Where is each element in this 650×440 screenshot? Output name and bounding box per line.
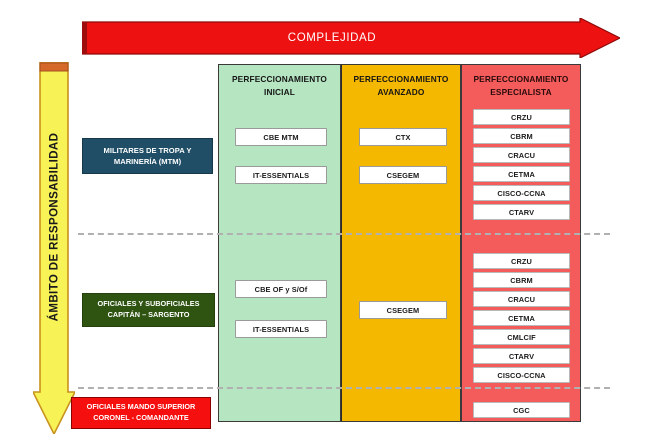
course-pill[interactable]: IT-ESSENTIALS: [235, 166, 327, 184]
column-inicial-title-line1: PERFECCIONAMIENTO: [219, 73, 340, 86]
role-label-mando-superior: OFICIALES MANDO SUPERIOR CORONEL - COMAN…: [71, 397, 211, 429]
column-especialista-title-line2: ESPECIALISTA: [462, 86, 580, 99]
complejidad-arrow: [82, 18, 620, 58]
column-avanzado-title: PERFECCIONAMIENTO AVANZADO: [342, 73, 460, 99]
column-especialista-title-line1: PERFECCIONAMIENTO: [462, 73, 580, 86]
course-pill[interactable]: CTARV: [473, 348, 570, 364]
course-pill[interactable]: CMLCIF: [473, 329, 570, 345]
course-pill[interactable]: CGC: [473, 402, 570, 418]
role-label-mtm: MILITARES DE TROPA Y MARINERÍA (MTM): [82, 138, 213, 174]
course-pill[interactable]: CBE MTM: [235, 128, 327, 146]
role-label-oficiales-suboficiales: OFICIALES Y SUBOFICIALES CAPITÁN – SARGE…: [82, 293, 215, 327]
diagram-canvas: COMPLEJIDAD ÁMBITO DE RESPONSABILIDAD PE…: [0, 0, 650, 440]
role-label-oficiales-line1: OFICIALES Y SUBOFICIALES: [98, 299, 200, 310]
course-pill[interactable]: CRZU: [473, 109, 570, 125]
role-label-mtm-line2: MARINERÍA (MTM): [114, 156, 181, 167]
course-pill[interactable]: CTX: [359, 128, 447, 146]
column-inicial: PERFECCIONAMIENTO INICIAL CBE MTM IT-ESS…: [218, 64, 341, 422]
responsabilidad-arrow: [33, 62, 75, 434]
course-pill[interactable]: CBRM: [473, 272, 570, 288]
band-separator-lower: [78, 387, 610, 389]
role-label-oficiales-line2: CAPITÁN – SARGENTO: [108, 310, 190, 321]
role-label-mando-line2: CORONEL - COMANDANTE: [93, 413, 189, 424]
column-avanzado: PERFECCIONAMIENTO AVANZADO CTX CSEGEM CS…: [341, 64, 461, 422]
course-pill[interactable]: CRACU: [473, 291, 570, 307]
course-pill[interactable]: CISCO-CCNA: [473, 185, 570, 201]
course-pill[interactable]: CETMA: [473, 166, 570, 182]
course-pill[interactable]: CTARV: [473, 204, 570, 220]
course-pill[interactable]: CRZU: [473, 253, 570, 269]
course-pill[interactable]: CRACU: [473, 147, 570, 163]
column-avanzado-title-line2: AVANZADO: [342, 86, 460, 99]
course-pill[interactable]: CETMA: [473, 310, 570, 326]
course-pill[interactable]: CSEGEM: [359, 166, 447, 184]
column-inicial-title-line2: INICIAL: [219, 86, 340, 99]
role-label-mtm-line1: MILITARES DE TROPA Y: [104, 145, 192, 156]
role-label-mando-line1: OFICIALES MANDO SUPERIOR: [87, 402, 196, 413]
course-pill[interactable]: IT-ESSENTIALS: [235, 320, 327, 338]
course-pill[interactable]: CBRM: [473, 128, 570, 144]
course-pill[interactable]: CISCO-CCNA: [473, 367, 570, 383]
column-avanzado-title-line1: PERFECCIONAMIENTO: [342, 73, 460, 86]
band-separator-upper: [78, 233, 610, 235]
column-especialista: PERFECCIONAMIENTO ESPECIALISTA CRZU CBRM…: [461, 64, 581, 422]
course-pill[interactable]: CBE OF y S/Of: [235, 280, 327, 298]
course-pill[interactable]: CSEGEM: [359, 301, 447, 319]
column-inicial-title: PERFECCIONAMIENTO INICIAL: [219, 73, 340, 99]
column-especialista-title: PERFECCIONAMIENTO ESPECIALISTA: [462, 73, 580, 99]
